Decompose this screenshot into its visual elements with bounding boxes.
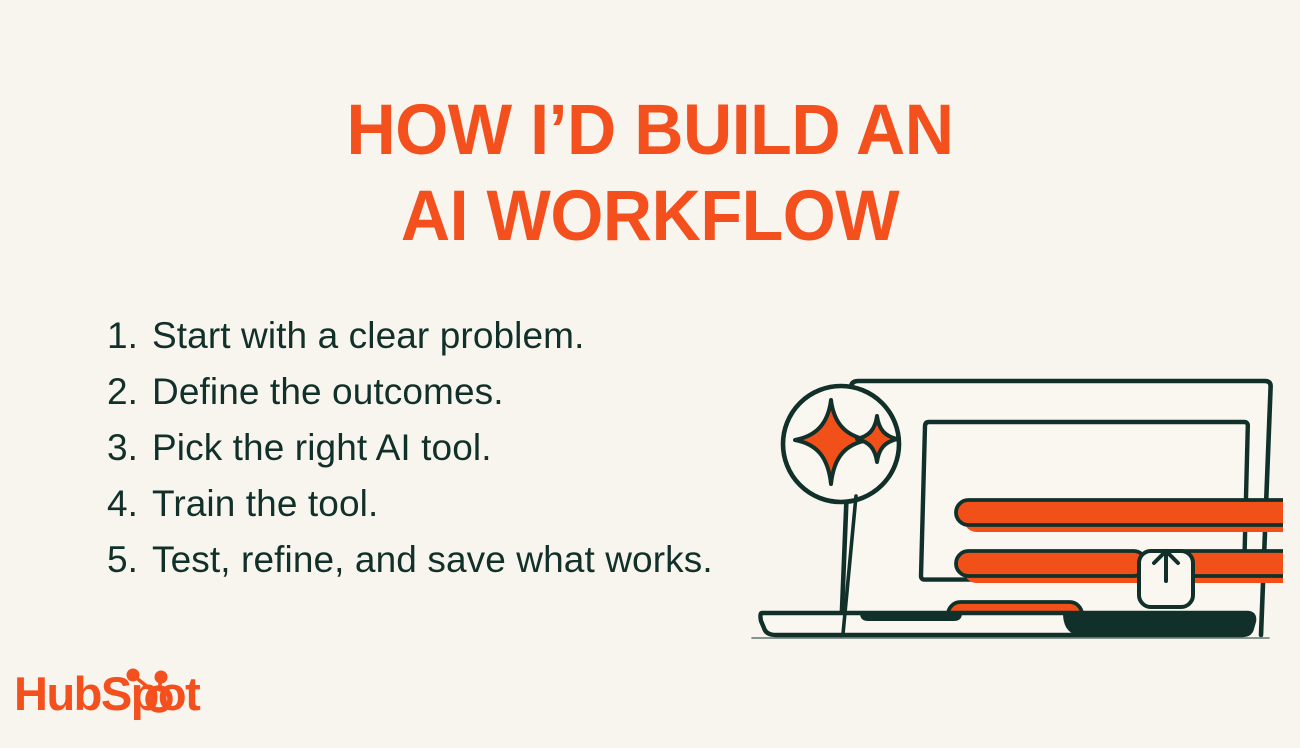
list-item-label: Define the outcomes. <box>152 364 504 420</box>
chat-bar-2 <box>956 551 1146 576</box>
list-item: 4. Train the tool. <box>86 476 806 532</box>
list-item-number: 4. <box>86 476 138 532</box>
list-item-number: 2. <box>86 364 138 420</box>
list-item-number: 1. <box>86 308 138 364</box>
page-title: HOW I’D BUILD AN AI WORKFLOW <box>0 88 1300 260</box>
chat-bar-1 <box>956 500 1283 525</box>
steps-list: 1. Start with a clear problem. 2. Define… <box>86 308 806 588</box>
hubspot-wordmark: HubSpot <box>14 667 201 720</box>
list-item-number: 5. <box>86 532 138 588</box>
title-line-1: HOW I’D BUILD AN <box>26 88 1274 174</box>
hubspot-wordmark-text: HubSpot <box>14 667 201 720</box>
laptop-base-shading <box>1063 613 1254 635</box>
list-item: 5. Test, refine, and save what works. <box>86 532 806 588</box>
list-item-number: 3. <box>86 420 138 476</box>
laptop-ai-chat-illustration <box>738 366 1283 656</box>
title-line-2: AI WORKFLOW <box>26 174 1274 260</box>
hubspot-logo[interactable]: HubSpot <box>14 664 214 724</box>
list-item: 2. Define the outcomes. <box>86 364 806 420</box>
laptop-base-notch <box>860 613 962 621</box>
list-item-label: Pick the right AI tool. <box>152 420 492 476</box>
send-arrow-button-group <box>1139 551 1193 607</box>
list-item: 3. Pick the right AI tool. <box>86 420 806 476</box>
list-item: 1. Start with a clear problem. <box>86 308 806 364</box>
list-item-label: Test, refine, and save what works. <box>152 532 713 588</box>
list-item-label: Train the tool. <box>152 476 378 532</box>
poster-canvas: HOW I’D BUILD AN AI WORKFLOW 1. Start wi… <box>0 0 1300 748</box>
list-item-label: Start with a clear problem. <box>152 308 584 364</box>
